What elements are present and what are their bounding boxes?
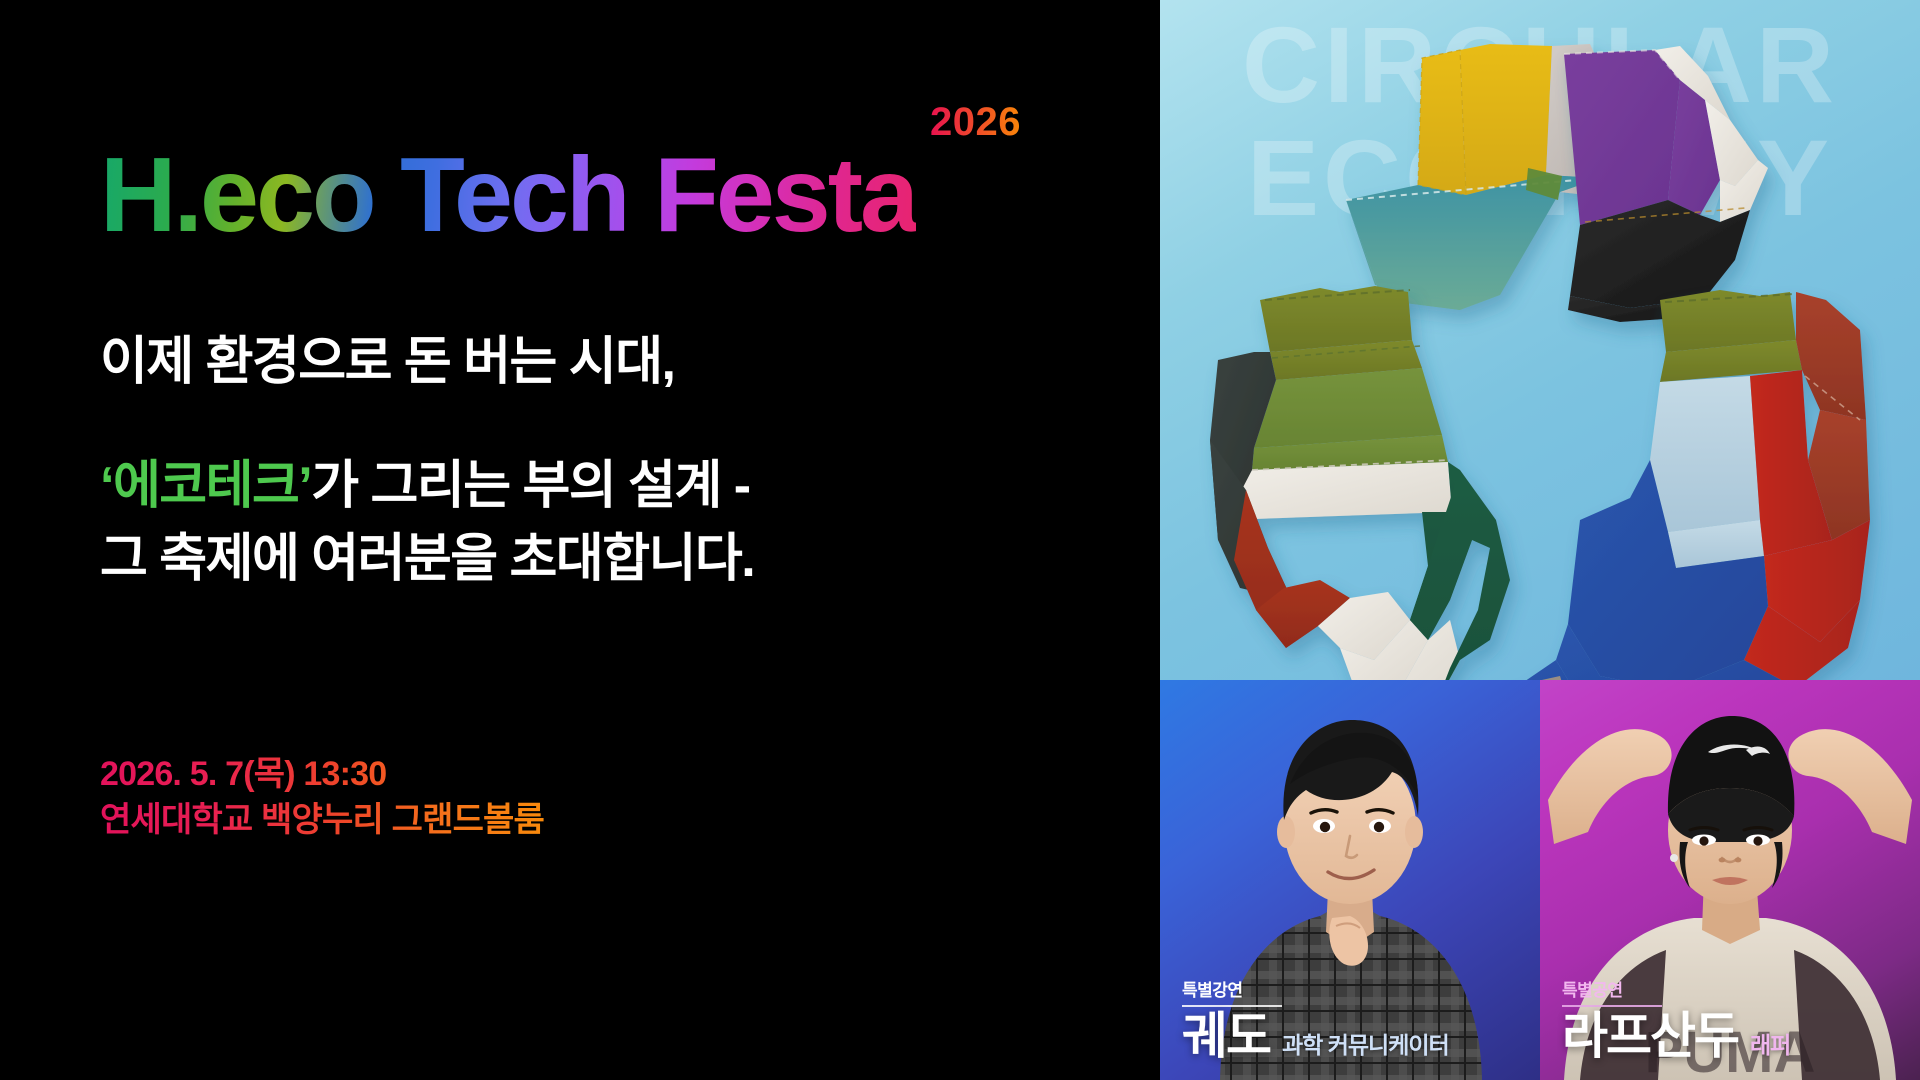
speaker-name-lafsandu: 라프산두 <box>1562 1010 1738 1063</box>
recycling-symbol-icon <box>1160 0 1920 680</box>
tagline-line-3: 그 축제에 여러분을 초대합니다. <box>100 527 1060 593</box>
speaker-role-tag-kedo: 특별강연 <box>1182 976 1449 1001</box>
event-datetime: 2026. 5. 7(목) 13:30 <box>100 752 544 798</box>
event-poster: 2026 H.eco Tech Festa 이제 환경으로 돈 버는 시대, ‘… <box>0 0 1920 1080</box>
speaker-card-lafsandu[interactable]: PUMA <box>1540 680 1920 1080</box>
tagline-block: 이제 환경으로 돈 버는 시대, ‘에코테크’가 그리는 부의 설계 - 그 축… <box>100 330 1060 593</box>
speaker-title-lafsandu: 래퍼 <box>1750 1026 1790 1060</box>
event-venue: 연세대학교 백양누리 그랜드볼룸 <box>100 798 544 844</box>
caption-divider <box>1562 1005 1662 1007</box>
speaker-caption-lafsandu: 특별공연 라프산두 래퍼 <box>1562 976 1790 1063</box>
tagline-line-2: ‘에코테크’가 그리는 부의 설계 - <box>100 454 1060 520</box>
page-title: H.eco Tech Festa <box>100 142 916 248</box>
event-info-block: 2026. 5. 7(목) 13:30 연세대학교 백양누리 그랜드볼룸 <box>100 752 544 843</box>
hero-image: CIRCULAR ECONOMY <box>1160 0 1920 680</box>
speaker-title-kedo: 과학 커뮤니케이터 <box>1282 1026 1449 1060</box>
poster-right-panel: CIRCULAR ECONOMY <box>1160 0 1920 1080</box>
speaker-role-tag-lafsandu: 특별공연 <box>1562 976 1790 1001</box>
eco-tech-accent: ‘에코테크’ <box>100 457 311 515</box>
year-badge: 2026 <box>930 100 1021 145</box>
tagline-line-1: 이제 환경으로 돈 버는 시대, <box>100 330 1060 396</box>
tagline-line-2-rest: 가 그리는 부의 설계 - <box>311 457 749 515</box>
speaker-caption-kedo: 특별강연 궤도 과학 커뮤니케이터 <box>1182 976 1449 1063</box>
poster-left-panel: 2026 H.eco Tech Festa 이제 환경으로 돈 버는 시대, ‘… <box>0 0 1160 1080</box>
caption-divider <box>1182 1005 1282 1007</box>
speaker-cards: 특별강연 궤도 과학 커뮤니케이터 <box>1160 680 1920 1080</box>
speaker-name-kedo: 궤도 <box>1182 1010 1270 1063</box>
speaker-card-kedo[interactable]: 특별강연 궤도 과학 커뮤니케이터 <box>1160 680 1540 1080</box>
